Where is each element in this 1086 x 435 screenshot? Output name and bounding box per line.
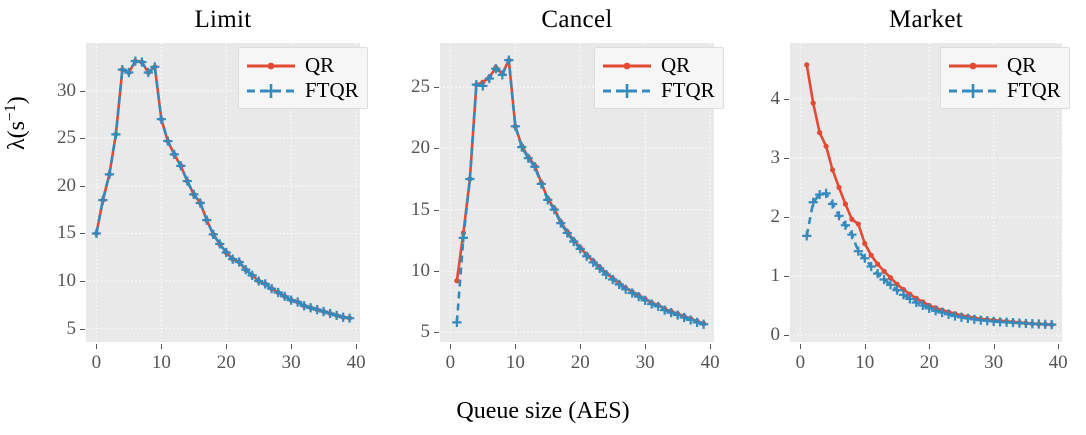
x-tick-label: 30 bbox=[282, 352, 301, 374]
x-tick-mark bbox=[1058, 344, 1059, 349]
legend-row-ftqr[interactable]: FTQR bbox=[601, 78, 715, 103]
y-tick-mark bbox=[784, 158, 789, 159]
y-tick-label: 5 bbox=[32, 318, 76, 340]
y-tick-mark bbox=[784, 99, 789, 100]
y-tick-mark bbox=[434, 332, 439, 333]
y-tick-mark bbox=[434, 210, 439, 211]
y-tick-label: 15 bbox=[386, 199, 430, 221]
legend-label-qr: QR bbox=[661, 55, 690, 76]
y-tick-mark bbox=[434, 87, 439, 88]
y-tick-mark bbox=[784, 217, 789, 218]
y-tick-label: 10 bbox=[386, 260, 430, 282]
y-tick-label: 1 bbox=[736, 265, 780, 287]
y-tick-label: 25 bbox=[32, 127, 76, 149]
x-tick-label: 0 bbox=[796, 352, 806, 374]
panel-market: Market QR FTQR 01234010203040 bbox=[730, 0, 1086, 435]
x-tick-mark bbox=[515, 344, 516, 349]
legend-sample-qr bbox=[601, 57, 653, 75]
legend-market: QR FTQR bbox=[940, 47, 1070, 109]
legend-row-qr[interactable]: QR bbox=[601, 53, 715, 78]
x-tick-mark bbox=[645, 344, 646, 349]
legend-label-qr: QR bbox=[1007, 55, 1036, 76]
panel-title-limit: Limit bbox=[56, 6, 390, 34]
x-tick-mark bbox=[96, 344, 97, 349]
x-tick-label: 20 bbox=[217, 352, 236, 374]
legend-row-ftqr[interactable]: FTQR bbox=[947, 78, 1061, 103]
y-tick-label: 20 bbox=[32, 175, 76, 197]
panel-cancel: Cancel QR FTQR 510152025010203040 bbox=[366, 0, 732, 435]
x-tick-label: 0 bbox=[92, 352, 102, 374]
y-tick-label: 30 bbox=[32, 80, 76, 102]
legend-sample-ftqr bbox=[947, 82, 999, 100]
y-tick-mark bbox=[434, 148, 439, 149]
legend-label-qr: QR bbox=[305, 55, 334, 76]
x-tick-mark bbox=[929, 344, 930, 349]
x-tick-mark bbox=[291, 344, 292, 349]
figure-root: λ(s−1) Limit QR FTQR 5101520253001020304… bbox=[0, 0, 1086, 435]
x-tick-label: 20 bbox=[920, 352, 939, 374]
x-tick-label: 30 bbox=[984, 352, 1003, 374]
y-tick-label: 15 bbox=[32, 222, 76, 244]
legend-sample-qr bbox=[947, 57, 999, 75]
x-tick-mark bbox=[161, 344, 162, 349]
x-tick-label: 20 bbox=[571, 352, 590, 374]
y-tick-mark bbox=[80, 91, 85, 92]
x-tick-mark bbox=[800, 344, 801, 349]
x-tick-label: 40 bbox=[347, 352, 366, 374]
y-tick-mark bbox=[784, 276, 789, 277]
y-tick-mark bbox=[80, 186, 85, 187]
panel-title-market: Market bbox=[760, 6, 1086, 34]
legend-sample-ftqr bbox=[601, 82, 653, 100]
legend-cancel: QR FTQR bbox=[594, 47, 724, 109]
panel-limit: Limit QR FTQR 51015202530010203040 bbox=[0, 0, 366, 435]
y-tick-label: 20 bbox=[386, 137, 430, 159]
x-tick-mark bbox=[450, 344, 451, 349]
x-tick-mark bbox=[356, 344, 357, 349]
y-tick-label: 10 bbox=[32, 270, 76, 292]
x-tick-mark bbox=[710, 344, 711, 349]
y-tick-label: 5 bbox=[386, 321, 430, 343]
y-tick-mark bbox=[80, 281, 85, 282]
x-tick-mark bbox=[226, 344, 227, 349]
y-tick-mark bbox=[80, 138, 85, 139]
x-tick-label: 30 bbox=[636, 352, 655, 374]
legend-row-qr[interactable]: QR bbox=[947, 53, 1061, 78]
x-tick-label: 0 bbox=[446, 352, 456, 374]
y-tick-label: 2 bbox=[736, 206, 780, 228]
y-tick-label: 25 bbox=[386, 76, 430, 98]
x-tick-label: 10 bbox=[855, 352, 874, 374]
x-tick-mark bbox=[994, 344, 995, 349]
legend-row-ftqr[interactable]: FTQR bbox=[245, 78, 359, 103]
legend-sample-ftqr bbox=[245, 82, 297, 100]
y-tick-mark bbox=[784, 335, 789, 336]
y-tick-mark bbox=[434, 271, 439, 272]
legend-row-qr[interactable]: QR bbox=[245, 53, 359, 78]
y-tick-label: 0 bbox=[736, 324, 780, 346]
y-tick-label: 3 bbox=[736, 147, 780, 169]
legend-label-ftqr: FTQR bbox=[305, 80, 359, 101]
x-tick-label: 10 bbox=[506, 352, 525, 374]
y-tick-mark bbox=[80, 233, 85, 234]
x-tick-mark bbox=[865, 344, 866, 349]
series-ftqr bbox=[802, 189, 1056, 329]
legend-sample-qr bbox=[245, 57, 297, 75]
x-axis-label: Queue size (AES) bbox=[0, 398, 1086, 425]
y-tick-mark bbox=[80, 329, 85, 330]
legend-limit: QR FTQR bbox=[238, 47, 368, 109]
x-tick-label: 10 bbox=[152, 352, 171, 374]
legend-label-ftqr: FTQR bbox=[1007, 80, 1061, 101]
panel-title-cancel: Cancel bbox=[410, 6, 744, 34]
x-tick-mark bbox=[580, 344, 581, 349]
y-tick-label: 4 bbox=[736, 88, 780, 110]
x-tick-label: 40 bbox=[1049, 352, 1068, 374]
legend-label-ftqr: FTQR bbox=[661, 80, 715, 101]
x-tick-label: 40 bbox=[701, 352, 720, 374]
